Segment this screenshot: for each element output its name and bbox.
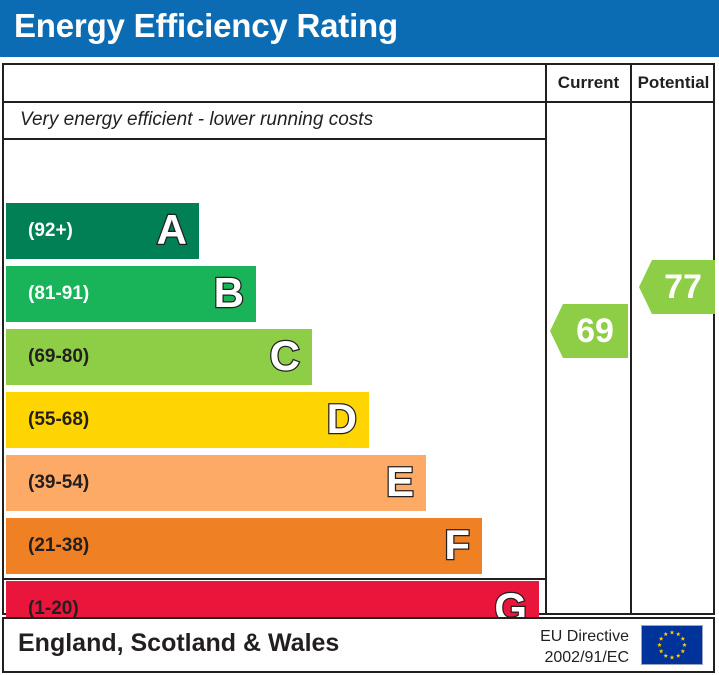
column-header-current: Current <box>547 65 630 101</box>
rating-chart-frame: Current Potential Very energy efficient … <box>2 63 715 615</box>
band-letter-f: F <box>444 518 470 574</box>
band-range-e: (39-54) <box>28 455 89 511</box>
rating-band-f: (21-38)F <box>6 518 482 574</box>
directive-line-2: 2002/91/EC <box>484 647 629 668</box>
band-range-d: (55-68) <box>28 392 89 448</box>
column-header-potential: Potential <box>632 65 715 101</box>
energy-efficiency-certificate: Energy Efficiency Rating Current Potenti… <box>0 0 719 675</box>
column-divider-potential <box>630 65 632 613</box>
directive-line-1: EU Directive <box>484 626 629 647</box>
rating-band-b: (81-91)B <box>6 266 256 322</box>
eu-star <box>681 649 686 653</box>
caption-rule-top <box>4 138 545 140</box>
page-title: Energy Efficiency Rating <box>14 7 398 45</box>
rating-band-c: (69-80)C <box>6 329 312 385</box>
eu-star <box>670 630 675 634</box>
eu-star <box>682 643 687 647</box>
caption-rule-bottom <box>4 578 545 580</box>
header-row-rule <box>4 101 713 103</box>
rating-band-e: (39-54)E <box>6 455 426 511</box>
rating-band-a: (92+)A <box>6 203 199 259</box>
title-bar: Energy Efficiency Rating <box>0 0 719 57</box>
band-letter-b: B <box>214 266 244 322</box>
eu-stars <box>642 626 702 664</box>
caption-very-efficient: Very energy efficient - lower running co… <box>20 109 373 131</box>
eu-star <box>676 632 681 636</box>
eu-star <box>663 632 668 636</box>
eu-star <box>670 655 675 659</box>
band-letter-a: A <box>157 203 187 259</box>
eu-flag-icon <box>641 625 703 665</box>
band-range-c: (69-80) <box>28 329 89 385</box>
band-letter-c: C <box>270 329 300 385</box>
eu-star <box>681 636 686 640</box>
band-range-f: (21-38) <box>28 518 89 574</box>
footer-frame: England, Scotland & Wales EU Directive 2… <box>2 617 715 673</box>
footer-directive: EU Directive 2002/91/EC <box>484 626 629 668</box>
eu-star <box>659 649 664 653</box>
band-range-b: (81-91) <box>28 266 89 322</box>
band-letter-e: E <box>386 455 414 511</box>
rating-band-d: (55-68)D <box>6 392 369 448</box>
rating-badge-potential: 77 <box>639 260 715 314</box>
eu-star <box>663 653 668 657</box>
rating-badge-current: 69 <box>550 304 628 358</box>
eu-star <box>676 653 681 657</box>
eu-star <box>657 643 662 647</box>
footer-region-label: England, Scotland & Wales <box>18 629 339 658</box>
band-range-a: (92+) <box>28 203 73 259</box>
column-divider-current <box>545 65 547 613</box>
eu-star <box>659 636 664 640</box>
band-letter-d: D <box>327 392 357 448</box>
